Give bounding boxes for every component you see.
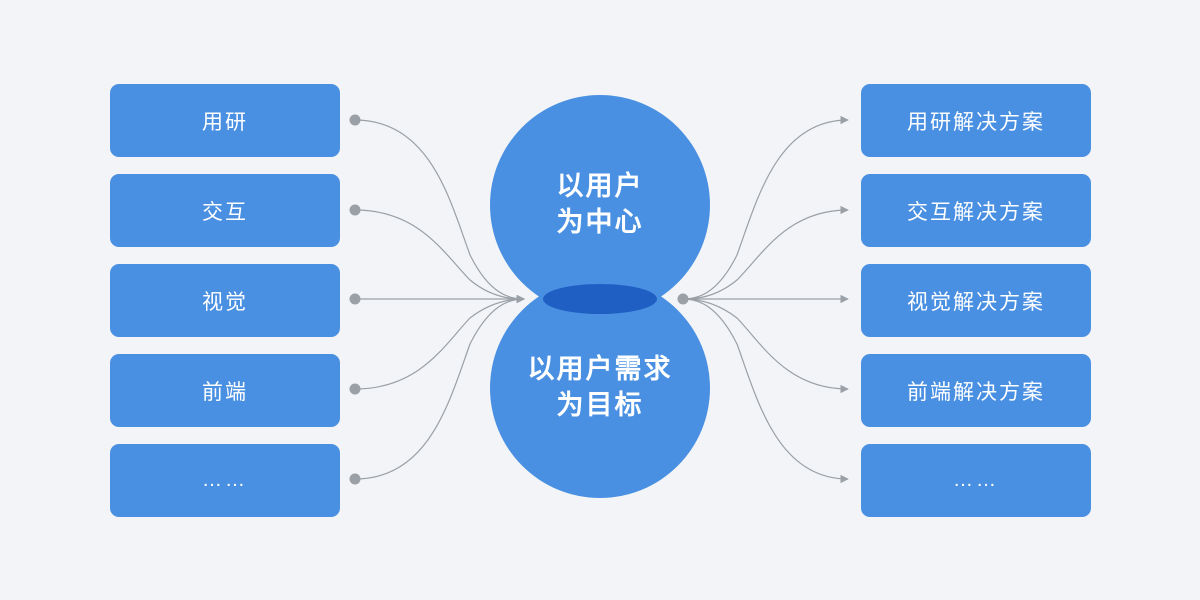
right-node-4-label: 前端解决方案 — [907, 376, 1045, 406]
left-node-4-label: 前端 — [202, 376, 248, 406]
left-node-2[interactable]: 交互 — [110, 174, 340, 247]
right-node-1[interactable]: 用研解决方案 — [861, 84, 1091, 157]
center-circle-bottom[interactable]: 以用户需求 为目标 — [490, 278, 710, 498]
left-node-2-label: 交互 — [202, 196, 248, 226]
connector-left-dots — [350, 115, 361, 485]
left-node-5-label: …… — [202, 469, 248, 492]
left-node-5[interactable]: …… — [110, 444, 340, 517]
connector-dot — [350, 474, 361, 485]
connector-dot — [350, 384, 361, 395]
center-circle-top-line-1: 以用户 — [557, 169, 644, 205]
left-node-3-label: 视觉 — [202, 286, 248, 316]
center-circle-bottom-line-2: 为目标 — [557, 388, 644, 424]
left-node-1-label: 用研 — [202, 106, 248, 136]
right-node-2[interactable]: 交互解决方案 — [861, 174, 1091, 247]
left-node-4[interactable]: 前端 — [110, 354, 340, 427]
center-circle-top-line-2: 为中心 — [557, 205, 644, 241]
connector-dot-hub-right — [678, 294, 689, 305]
right-node-3[interactable]: 视觉解决方案 — [861, 264, 1091, 337]
right-node-4[interactable]: 前端解决方案 — [861, 354, 1091, 427]
center-circle-bottom-line-1: 以用户需求 — [528, 352, 673, 388]
right-node-1-label: 用研解决方案 — [907, 106, 1045, 136]
connector-dot — [350, 294, 361, 305]
connector-dot — [350, 205, 361, 216]
left-node-3[interactable]: 视觉 — [110, 264, 340, 337]
left-node-1[interactable]: 用研 — [110, 84, 340, 157]
right-node-3-label: 视觉解决方案 — [907, 286, 1045, 316]
right-node-2-label: 交互解决方案 — [907, 196, 1045, 226]
right-node-5[interactable]: …… — [861, 444, 1091, 517]
connector-dot — [350, 115, 361, 126]
diagram-canvas: 用研 交互 视觉 前端 …… 用研解决方案 交互解决方案 视觉解决方案 前端解决… — [0, 0, 1200, 600]
right-column: 用研解决方案 交互解决方案 视觉解决方案 前端解决方案 …… — [861, 84, 1091, 517]
left-column: 用研 交互 视觉 前端 …… — [110, 84, 340, 517]
right-node-5-label: …… — [953, 469, 999, 492]
